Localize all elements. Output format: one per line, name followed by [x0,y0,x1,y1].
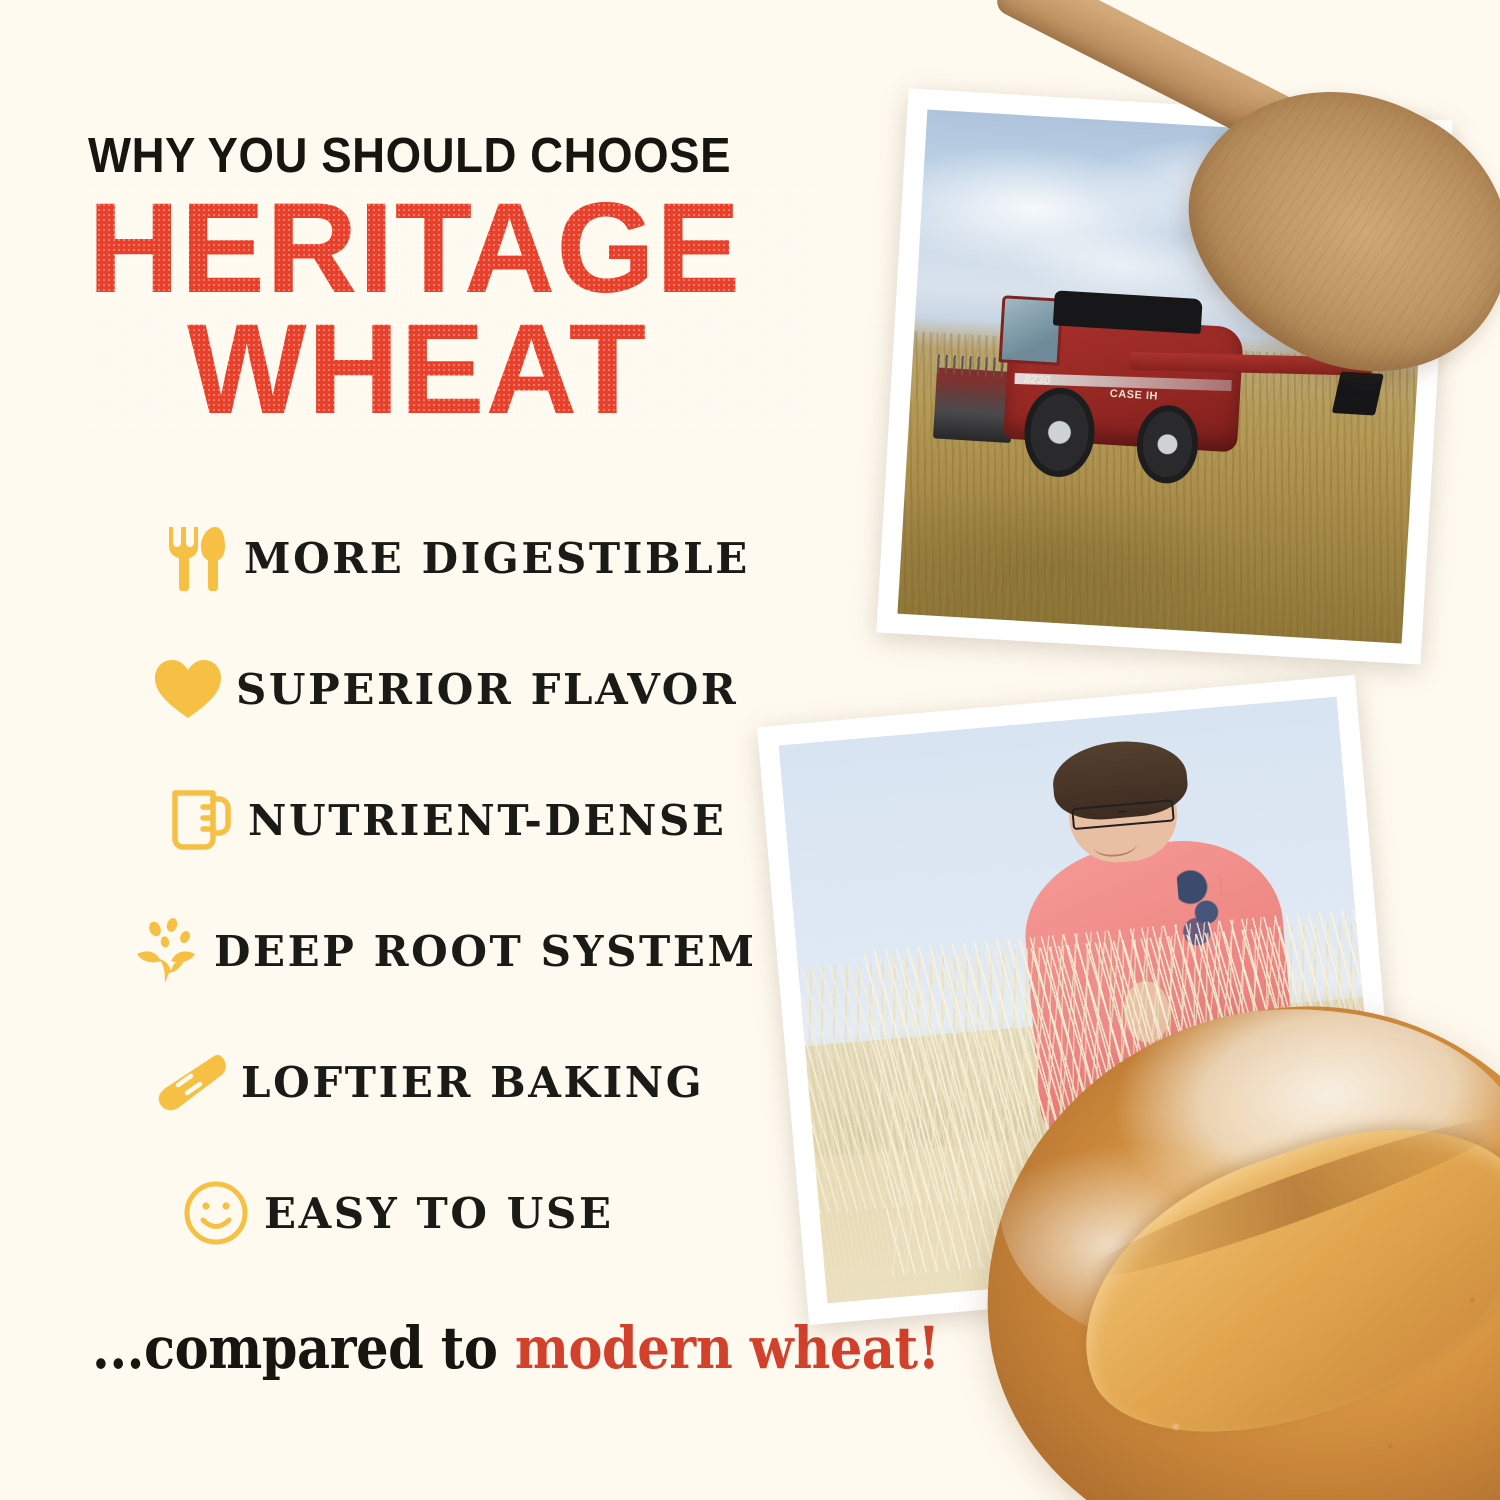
headline-line-heritage: HERITAGE [88,189,811,308]
infographic-canvas: WHY YOU SHOULD CHOOSE HERITAGE WHEAT MOR… [0,0,1500,1500]
feature-list: MORE DIGESTIBLE SUPERIOR FLAVOR [0,512,800,1298]
tagline-accent: modern wheat! [515,1314,940,1382]
feature-label: NUTRIENT-DENSE [248,796,727,845]
feature-label: DEEP ROOT SYSTEM [214,927,757,976]
loaf-crust-texture [954,972,1500,1500]
smiley-face-icon [168,1180,264,1246]
feature-item-deep-root-system: DEEP ROOT SYSTEM [0,905,800,997]
headline-line-wheat: WHEAT [88,310,811,429]
feature-label: LOFTIER BAKING [241,1058,704,1107]
headline-main: HERITAGE WHEAT [88,189,818,429]
bread-loaf-icon [145,1052,241,1112]
feature-label: SUPERIOR FLAVOR [236,665,738,714]
feature-item-superior-flavor: SUPERIOR FLAVOR [0,643,800,735]
feature-label: EASY TO USE [264,1189,614,1238]
feature-item-nutrient-dense: NUTRIENT-DENSE [0,774,800,866]
measuring-cup-icon [152,787,248,853]
fork-knife-icon [148,525,244,591]
tagline-prefix: ...compared to [92,1314,515,1382]
headline-kicker: WHY YOU SHOULD CHOOSE [88,132,767,181]
headline-block: WHY YOU SHOULD CHOOSE HERITAGE WHEAT [88,132,818,429]
sprout-icon [118,917,214,985]
sourdough-bread-loaf [954,972,1500,1500]
text-column: WHY YOU SHOULD CHOOSE HERITAGE WHEAT MOR… [0,0,860,1500]
feature-item-more-digestible: MORE DIGESTIBLE [0,512,800,604]
feature-label: MORE DIGESTIBLE [244,534,750,583]
heart-icon [140,658,236,720]
feature-item-loftier-baking: LOFTIER BAKING [0,1036,800,1128]
feature-item-easy-to-use: EASY TO USE [0,1167,800,1259]
loaf-crust [954,972,1500,1500]
